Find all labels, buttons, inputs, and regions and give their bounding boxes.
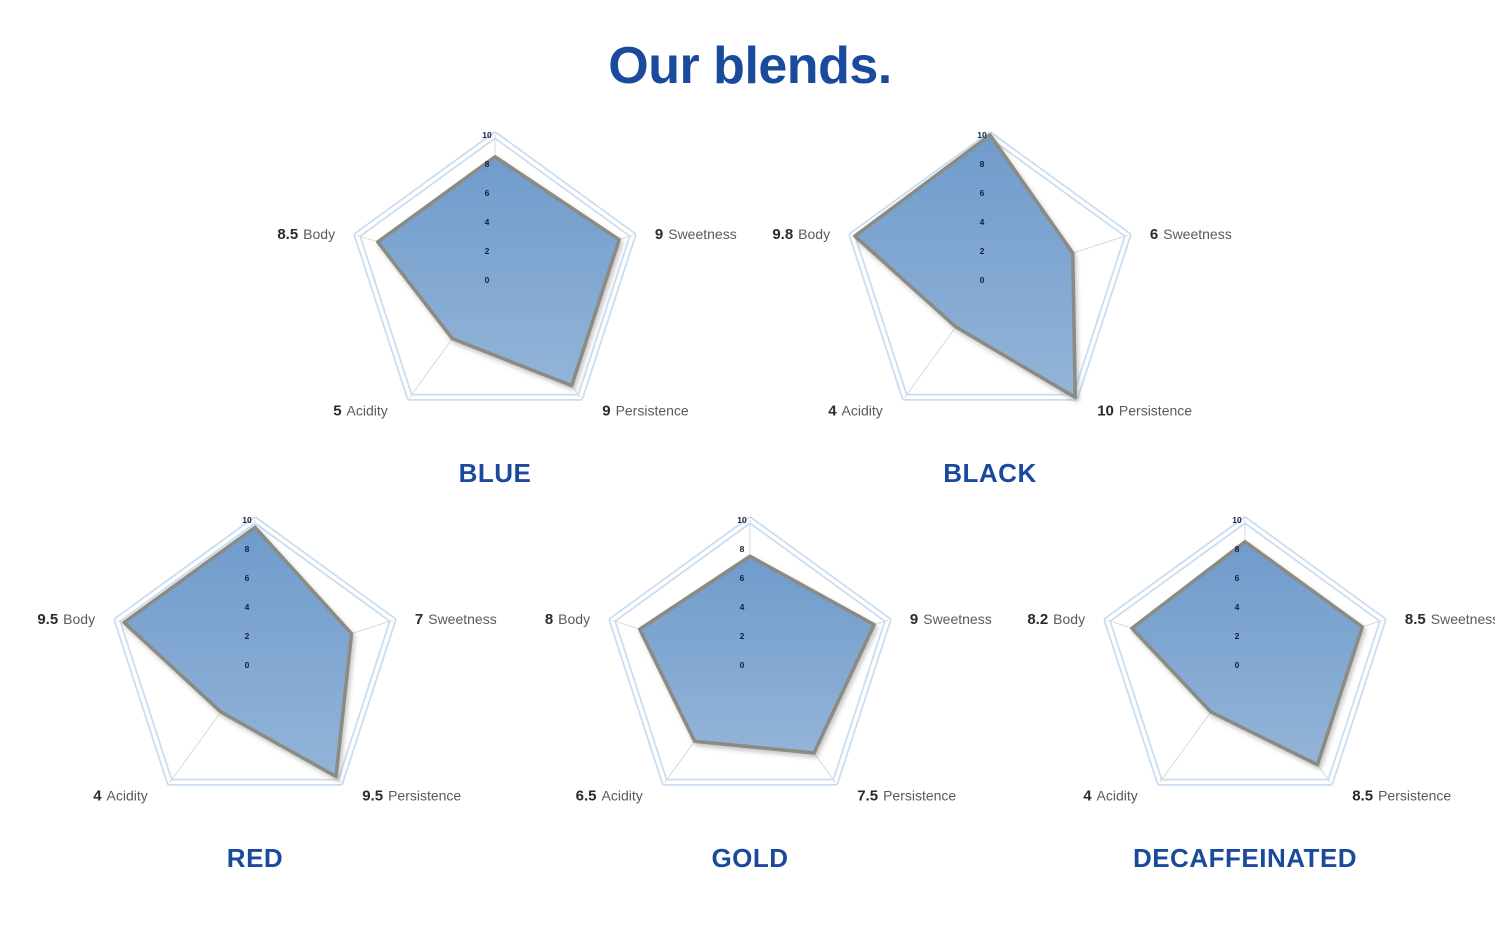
radial-tick-label: 4	[485, 217, 490, 227]
axis-value: 4	[93, 787, 102, 804]
axis-label: Sweetness	[668, 226, 736, 242]
svg-text:9.5Body: 9.5Body	[37, 611, 95, 628]
radial-tick-label: 2	[1235, 631, 1240, 641]
axis-label: Sweetness	[428, 611, 496, 627]
radial-tick-label: 10	[482, 130, 492, 140]
axis-value: 5	[333, 402, 341, 419]
axis-label: Body	[798, 226, 830, 242]
svg-text:8Body: 8Body	[545, 611, 590, 628]
radar-charts-grid: 10864208.5Intensity9Sweetness9Persistenc…	[0, 118, 1500, 928]
axis-label: Acidity	[602, 787, 643, 803]
radar-plot: 10864207.5Intensity9Sweetness7.5Persiste…	[500, 503, 1000, 853]
axis-label: Body	[303, 226, 335, 242]
svg-text:7.5Persistence: 7.5Persistence	[857, 787, 956, 804]
svg-text:8.5Body: 8.5Body	[277, 226, 335, 243]
axis-label: Sweetness	[1163, 226, 1231, 242]
axis-label: Persistence	[388, 787, 461, 803]
axis-annotation-persistence: 9Persistence	[602, 402, 689, 419]
axis-label: Sweetness	[923, 611, 991, 627]
axis-value: 7	[415, 611, 423, 628]
blend-name-blue: BLUE	[245, 458, 745, 489]
axis-value: 8.2	[1027, 611, 1048, 628]
radial-tick-label: 0	[245, 660, 250, 670]
radial-tick-label: 0	[740, 660, 745, 670]
axis-annotation-persistence: 7.5Persistence	[857, 787, 956, 804]
radial-tick-label: 0	[1235, 660, 1240, 670]
blend-name-black: BLACK	[740, 458, 1240, 489]
radial-tick-label: 8	[245, 544, 250, 554]
axis-label: Persistence	[883, 787, 956, 803]
axis-value: 9	[655, 226, 663, 243]
radial-tick-label: 2	[980, 246, 985, 256]
axis-value: 4	[828, 402, 837, 419]
radial-tick-label: 2	[485, 246, 490, 256]
radial-tick-label: 10	[1232, 515, 1242, 525]
blend-name-decaffeinated: DECAFFEINATED	[995, 843, 1495, 874]
radar-plot: 108642010Intensity6Sweetness10Persistenc…	[740, 118, 1240, 468]
axis-annotation-acidity: 4Acidity	[93, 787, 148, 804]
axis-label: Persistence	[1378, 787, 1451, 803]
svg-text:10Persistence: 10Persistence	[1097, 402, 1192, 419]
radar-chart-black: 108642010Intensity6Sweetness10Persistenc…	[740, 118, 1240, 513]
axis-value: 9	[910, 611, 918, 628]
axis-label: Acidity	[842, 402, 883, 418]
radial-tick-label: 4	[740, 602, 745, 612]
axis-annotation-acidity: 6.5Acidity	[576, 787, 643, 804]
axis-value: 8.5	[1405, 611, 1426, 628]
radial-tick-label: 8	[485, 159, 490, 169]
axis-label: Body	[63, 611, 95, 627]
axis-value: 4	[1083, 787, 1092, 804]
radial-tick-label: 10	[242, 515, 252, 525]
axis-annotation-body: 9.8Body	[772, 226, 830, 243]
axis-label: Acidity	[1097, 787, 1138, 803]
radial-tick-label: 6	[740, 573, 745, 583]
radial-tick-label: 8	[740, 544, 745, 554]
svg-text:4Acidity: 4Acidity	[93, 787, 148, 804]
radial-tick-label: 8	[980, 159, 985, 169]
axis-annotation-persistence: 8.5Persistence	[1352, 787, 1451, 804]
axis-label: Body	[558, 611, 590, 627]
axis-value: 6.5	[576, 787, 597, 804]
page-title: Our blends.	[0, 40, 1500, 92]
radial-tick-label: 2	[740, 631, 745, 641]
axis-annotation-sweetness: 9Sweetness	[655, 226, 737, 243]
axis-annotation-sweetness: 9Sweetness	[910, 611, 992, 628]
svg-text:8.2Body: 8.2Body	[1027, 611, 1085, 628]
axis-label: Sweetness	[1431, 611, 1495, 627]
radial-tick-label: 6	[980, 188, 985, 198]
axis-label: Persistence	[616, 402, 689, 418]
axis-value: 6	[1150, 226, 1158, 243]
axis-annotation-body: 9.5Body	[37, 611, 95, 628]
radar-plot: 10864208.5Intensity8.5Sweetness8.5Persis…	[995, 503, 1495, 853]
radial-tick-label: 0	[980, 275, 985, 285]
axis-annotation-persistence: 9.5Persistence	[362, 787, 461, 804]
radar-chart-blue: 10864208.5Intensity9Sweetness9Persistenc…	[245, 118, 745, 513]
axis-annotation-body: 8.5Body	[277, 226, 335, 243]
axis-label: Acidity	[107, 787, 148, 803]
radial-tick-label: 2	[245, 631, 250, 641]
svg-text:9Sweetness: 9Sweetness	[910, 611, 992, 628]
axis-value: 9.5	[37, 611, 58, 628]
svg-text:4Acidity: 4Acidity	[828, 402, 883, 419]
axis-value: 9.5	[362, 787, 383, 804]
radar-chart-gold: 10864207.5Intensity9Sweetness7.5Persiste…	[500, 503, 1000, 898]
axis-value: 9	[602, 402, 610, 419]
radial-tick-label: 6	[1235, 573, 1240, 583]
radial-tick-label: 10	[977, 130, 987, 140]
svg-text:9.8Body: 9.8Body	[772, 226, 830, 243]
svg-text:6.5Acidity: 6.5Acidity	[576, 787, 643, 804]
svg-text:8.5Persistence: 8.5Persistence	[1352, 787, 1451, 804]
axis-value: 8.5	[1352, 787, 1373, 804]
axis-label: Body	[1053, 611, 1085, 627]
radial-tick-label: 4	[1235, 602, 1240, 612]
axis-annotation-acidity: 4Acidity	[828, 402, 883, 419]
axis-value: 10	[1097, 402, 1114, 419]
svg-text:8.5Sweetness: 8.5Sweetness	[1405, 611, 1495, 628]
axis-annotation-acidity: 4Acidity	[1083, 787, 1138, 804]
blend-name-red: RED	[5, 843, 505, 874]
axis-value: 7.5	[857, 787, 878, 804]
axis-value: 9.8	[772, 226, 793, 243]
radar-plot: 10864209.5Intensity7Sweetness9.5Persiste…	[5, 503, 505, 853]
radial-tick-label: 6	[245, 573, 250, 583]
radial-tick-label: 4	[980, 217, 985, 227]
axis-annotation-sweetness: 7Sweetness	[415, 611, 497, 628]
axis-label: Persistence	[1119, 402, 1192, 418]
svg-text:4Acidity: 4Acidity	[1083, 787, 1138, 804]
radial-tick-label: 10	[737, 515, 747, 525]
radar-plot: 10864208.5Intensity9Sweetness9Persistenc…	[245, 118, 745, 468]
svg-text:9Persistence: 9Persistence	[602, 402, 689, 419]
svg-text:7Sweetness: 7Sweetness	[415, 611, 497, 628]
axis-annotation-persistence: 10Persistence	[1097, 402, 1192, 419]
axis-value: 8.5	[277, 226, 298, 243]
radial-tick-label: 6	[485, 188, 490, 198]
radar-chart-red: 10864209.5Intensity7Sweetness9.5Persiste…	[5, 503, 505, 898]
axis-annotation-body: 8.2Body	[1027, 611, 1085, 628]
blend-name-gold: GOLD	[500, 843, 1000, 874]
axis-annotation-sweetness: 8.5Sweetness	[1405, 611, 1495, 628]
axis-annotation-body: 8Body	[545, 611, 590, 628]
svg-text:6Sweetness: 6Sweetness	[1150, 226, 1232, 243]
axis-label: Acidity	[347, 402, 388, 418]
svg-text:9.5Persistence: 9.5Persistence	[362, 787, 461, 804]
radial-tick-label: 0	[485, 275, 490, 285]
axis-value: 8	[545, 611, 553, 628]
radar-chart-decaffeinated: 10864208.5Intensity8.5Sweetness8.5Persis…	[995, 503, 1495, 898]
radial-tick-label: 4	[245, 602, 250, 612]
radial-tick-label: 8	[1235, 544, 1240, 554]
axis-annotation-sweetness: 6Sweetness	[1150, 226, 1232, 243]
svg-text:9Sweetness: 9Sweetness	[655, 226, 737, 243]
axis-annotation-acidity: 5Acidity	[333, 402, 388, 419]
svg-text:5Acidity: 5Acidity	[333, 402, 388, 419]
